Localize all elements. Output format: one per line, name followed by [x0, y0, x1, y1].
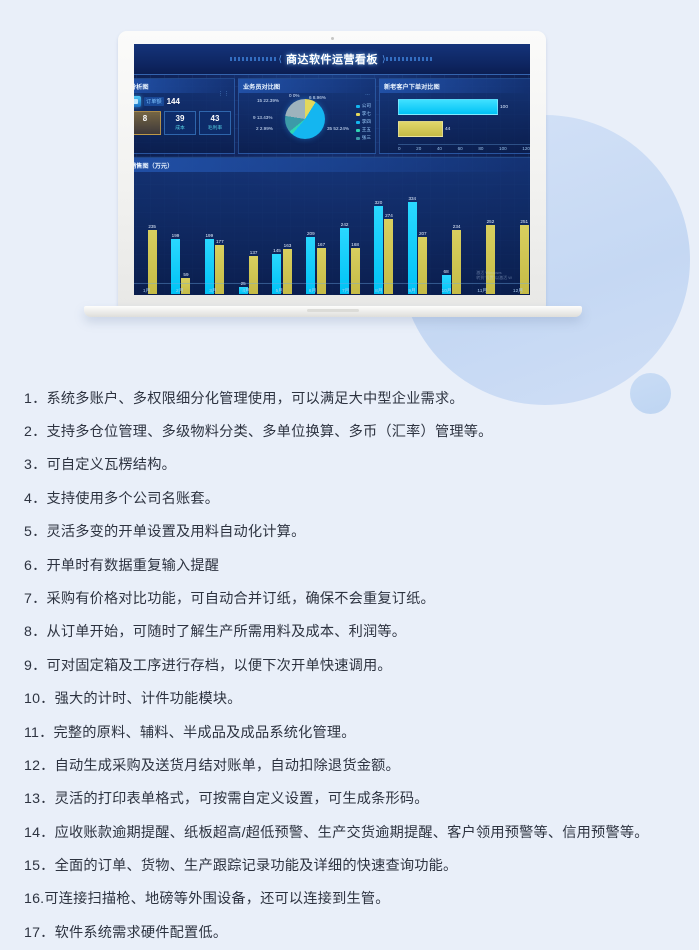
legend-label: 王五 [362, 127, 371, 133]
sales-bar-group: 209167 [306, 194, 326, 294]
dashboard-title: 商达软件运营看板 [286, 51, 378, 67]
feature-item: 16.可连接扫描枪、地磅等外围设备，还可以连接到生管。 [14, 883, 685, 916]
sales-bar-value: 199 [205, 233, 213, 238]
customer-bar-row: 100 [384, 99, 528, 115]
sales-bar-group: 242168 [340, 194, 360, 294]
laptop-base [84, 306, 582, 317]
sales-bar-value: 207 [419, 231, 427, 236]
sales-bar-value: 209 [307, 231, 315, 236]
feature-item: 2．支持多仓位管理、多级物料分类、多单位换算、多币（汇率）管理等。 [14, 415, 685, 448]
pie-label-left: 9 13.43% [253, 115, 272, 120]
sales-bar-group: 334207 [408, 194, 428, 294]
legend-item[interactable]: 王五 [356, 127, 371, 133]
pie-label-top-right: 6 8.96% [309, 95, 326, 100]
sales-bar-slot: 320 [374, 194, 383, 294]
sales-bar-slot: 168 [351, 194, 360, 294]
feature-item: 4．支持使用多个公司名账套。 [14, 482, 685, 515]
sales-bar-value: 68 [444, 269, 449, 274]
legend-swatch-icon [356, 121, 360, 124]
pie-label-bottom-left: 2 2.99% [256, 126, 273, 131]
legend-swatch-icon [356, 137, 360, 140]
axis-tick: 10月 [442, 287, 452, 294]
sales-bar-value: 320 [375, 200, 383, 205]
order-icon [134, 96, 141, 107]
kpi-card-label: 成本 [165, 124, 195, 131]
feature-item: 5．灵活多变的开单设置及用料自动化计算。 [14, 516, 685, 549]
sales-bar-value: 242 [341, 222, 349, 227]
kpi-card[interactable]: 8 [134, 111, 161, 135]
legend-label: 李四 [362, 119, 371, 125]
laptop-mockup: ⟨ 商达软件运营看板 ⟩ 分析图 ⋮⋮ [0, 0, 699, 340]
legend-label: 张三 [362, 135, 371, 141]
axis-tick: 5月 [276, 287, 283, 294]
kpi-card[interactable]: 43 毛利率 [199, 111, 231, 135]
pie-label-top: 0 0% [289, 93, 299, 98]
sales-bar [408, 202, 417, 294]
customer-bar-row: 44 [384, 121, 528, 137]
customer-x-axis: 0 20 40 60 80 100 120 [398, 144, 530, 151]
axis-tick: 6月 [309, 287, 316, 294]
watermark-line: 转到"设置"以激活 W [476, 275, 512, 280]
panel-sales-title: 销售图（万元） [134, 158, 530, 172]
sales-bar-value: 163 [284, 243, 292, 248]
kpi-card-value: 39 [165, 115, 195, 123]
feature-item: 9．可对固定箱及工序进行存档，以便下次开单快速调用。 [14, 649, 685, 682]
panel-salesperson-pie: 业务员对比图 … 0 0% 6 8.96% 35 52.24% 2 2.99% … [238, 78, 376, 154]
legend-swatch-icon [356, 105, 360, 108]
sales-bar-value: 252 [487, 219, 495, 224]
windows-activation-watermark: 激活 Windows转到"设置"以激活 W [476, 270, 512, 280]
legend-item[interactable]: 李七 [356, 111, 371, 117]
legend-label: 公司 [362, 103, 371, 109]
panel-kpi-menu[interactable]: ⋮⋮ [218, 91, 230, 97]
sales-bar-value: 234 [453, 224, 461, 229]
dashboard-top-row: 分析图 ⋮⋮ 订单额 144 8 [134, 78, 530, 154]
axis-tick: 20 [416, 146, 421, 151]
customer-bar-new [398, 99, 498, 115]
kpi-card[interactable]: 39 成本 [164, 111, 196, 135]
dashboard-header: ⟨ 商达软件运营看板 ⟩ [134, 44, 530, 75]
panel-customer-title: 新老客户下单对比图 [380, 79, 530, 93]
sales-chart-plot: 2351995919917725137145163209167242168320… [134, 172, 530, 294]
kpi-order-label: 订单额 [144, 97, 164, 106]
legend-item[interactable]: 李四 [356, 119, 371, 125]
axis-tick: 11月 [477, 287, 487, 294]
sales-bar-slot: 25 [239, 194, 248, 294]
sales-bar-group: 19959 [171, 194, 191, 294]
feature-item: 1．系统多账户、多权限细分化管理使用，可以满足大中型企业需求。 [14, 382, 685, 415]
axis-tick: 12月 [513, 287, 523, 294]
feature-item: 11．完整的原料、辅料、半成品及成品系统化管理。 [14, 716, 685, 749]
sales-bar-value: 235 [148, 224, 156, 229]
feature-item: 13．灵活的打印表单格式，可按需自定义设置，可生成条形码。 [14, 783, 685, 816]
sales-bar-slot: 334 [408, 194, 417, 294]
sales-bar-value: 251 [520, 219, 528, 224]
pie-label-top-left: 15 22.39% [257, 98, 279, 103]
sales-bar-slot: 207 [418, 194, 427, 294]
sales-bar-slot: 145 [272, 194, 281, 294]
sales-bar-value: 177 [216, 239, 224, 244]
sales-bar-slot: 68 [442, 194, 451, 294]
legend-item[interactable]: 张三 [356, 135, 371, 141]
sales-bar-group: 251 [509, 194, 529, 294]
sales-bar-group: 25137 [239, 194, 259, 294]
sales-bar-value: 59 [183, 272, 188, 277]
sales-bar-slot: 167 [317, 194, 326, 294]
kpi-cards: 8 39 成本 43 毛利率 [134, 110, 234, 136]
feature-item: 8．从订单开始，可随时了解生产所需用料及成本、利润等。 [14, 616, 685, 649]
sales-bar-slot: 235 [148, 194, 157, 294]
sales-bar-group: 235 [137, 194, 157, 294]
kpi-card-label: 毛利率 [200, 124, 230, 131]
sales-bar-slot: 209 [306, 194, 315, 294]
sales-bar-slot: 59 [181, 194, 190, 294]
sales-bar-value: 137 [250, 250, 258, 255]
sales-bar [374, 206, 383, 294]
feature-item: 12．自动生成采购及送货月结对账单，自动扣除退货金额。 [14, 749, 685, 782]
axis-tick: 7月 [342, 287, 349, 294]
kpi-order-value: 144 [167, 97, 180, 106]
axis-tick: 8月 [375, 287, 382, 294]
sales-bar-value: 167 [317, 242, 325, 247]
axis-tick: 9月 [408, 287, 415, 294]
sales-bar-value: 168 [351, 242, 359, 247]
dashboard: ⟨ 商达软件运营看板 ⟩ 分析图 ⋮⋮ [134, 44, 530, 295]
axis-tick: 40 [437, 146, 442, 151]
sales-bar-slot: 242 [340, 194, 349, 294]
axis-tick: 0 [398, 146, 401, 151]
webcam-icon [331, 37, 334, 40]
feature-item: 7．采购有价格对比功能，可自动合并订纸，确保不会重复订纸。 [14, 582, 685, 615]
sales-bar-value: 199 [172, 233, 180, 238]
sales-x-axis: 1月2月3月4月5月6月7月8月9月10月11月12月 [134, 283, 530, 295]
header-deco-right [386, 57, 434, 61]
header-deco-left [230, 57, 278, 61]
pie-graphic [285, 99, 325, 139]
panel-customer-bar: 新老客户下单对比图 100 44 [379, 78, 530, 154]
sales-bar-slot [137, 194, 146, 294]
feature-item: 10．强大的计时、计件功能模块。 [14, 683, 685, 716]
chevron-left-icon: ⟨ [278, 54, 282, 65]
sales-bar-group: 68234 [442, 194, 462, 294]
panel-pie-title: 业务员对比图 [239, 79, 375, 93]
sales-bar-value: 334 [408, 196, 416, 201]
feature-item: 6．开单时有数据重复输入提醒 [14, 549, 685, 582]
pie-label-right: 35 52.24% [327, 126, 349, 131]
sales-bar-value: 145 [273, 248, 281, 253]
axis-tick: 4月 [242, 287, 249, 294]
customer-bar-old [398, 121, 443, 137]
feature-list: 1．系统多账户、多权限细分化管理使用，可以满足大中型企业需求。2．支持多仓位管理… [0, 382, 699, 950]
laptop-lid: ⟨ 商达软件运营看板 ⟩ 分析图 ⋮⋮ [118, 31, 546, 308]
legend-swatch-icon [356, 129, 360, 132]
sales-bar-slot: 199 [171, 194, 180, 294]
sales-bar-slot: 163 [283, 194, 292, 294]
customer-bar-value: 100 [500, 105, 508, 110]
sales-bar-slot: 137 [249, 194, 258, 294]
sales-bar-slot: 274 [384, 194, 393, 294]
legend-swatch-icon [356, 113, 360, 116]
axis-tick: 3月 [209, 287, 216, 294]
feature-item: 14．应收账款逾期提醒、纸板超高/超低预警、生产交货逾期提醒、客户领用预警等、信… [14, 816, 685, 849]
pie-legend: 公司 李七 李四 [356, 103, 371, 141]
kpi-card-value: 43 [200, 115, 230, 123]
feature-item: 17．软件系统需求硬件配置低。 [14, 916, 685, 949]
sales-bar-slot: 234 [452, 194, 461, 294]
legend-label: 李七 [362, 111, 371, 117]
sales-bar-group: 145163 [272, 194, 292, 294]
sales-bar-slot: 251 [520, 194, 529, 294]
dashboard-body: 分析图 ⋮⋮ 订单额 144 8 [134, 75, 530, 295]
sales-bar-slot: 199 [205, 194, 214, 294]
customer-bar-value: 44 [445, 127, 450, 132]
sales-bar-slot: 177 [215, 194, 224, 294]
sales-bar-group: 320274 [374, 194, 394, 294]
laptop-screen: ⟨ 商达软件运营看板 ⟩ 分析图 ⋮⋮ [134, 44, 530, 295]
panel-sales-chart: 销售图（万元） 23519959199177251371451632091672… [134, 157, 530, 295]
axis-tick: 2月 [176, 287, 183, 294]
axis-tick: 80 [478, 146, 483, 151]
sales-bar-value: 274 [385, 213, 393, 218]
feature-item: 3．可自定义瓦楞结构。 [14, 449, 685, 482]
customer-chart: 100 44 0 20 40 60 [380, 93, 530, 155]
pie-chart: 0 0% 6 8.96% 35 52.24% 2 2.99% 9 13.43% … [239, 93, 375, 149]
kpi-card-value: 8 [134, 115, 160, 123]
axis-tick: 60 [458, 146, 463, 151]
legend-item[interactable]: 公司 [356, 103, 371, 109]
axis-tick: 120 [522, 146, 530, 151]
sales-bar-group: 199177 [205, 194, 225, 294]
axis-tick: 100 [499, 146, 507, 151]
axis-tick: 1月 [143, 287, 150, 294]
feature-item: 15．全面的订单、货物、生产跟踪记录功能及详细的快速查询功能。 [14, 849, 685, 882]
panel-kpi: 分析图 ⋮⋮ 订单额 144 8 [134, 78, 235, 154]
